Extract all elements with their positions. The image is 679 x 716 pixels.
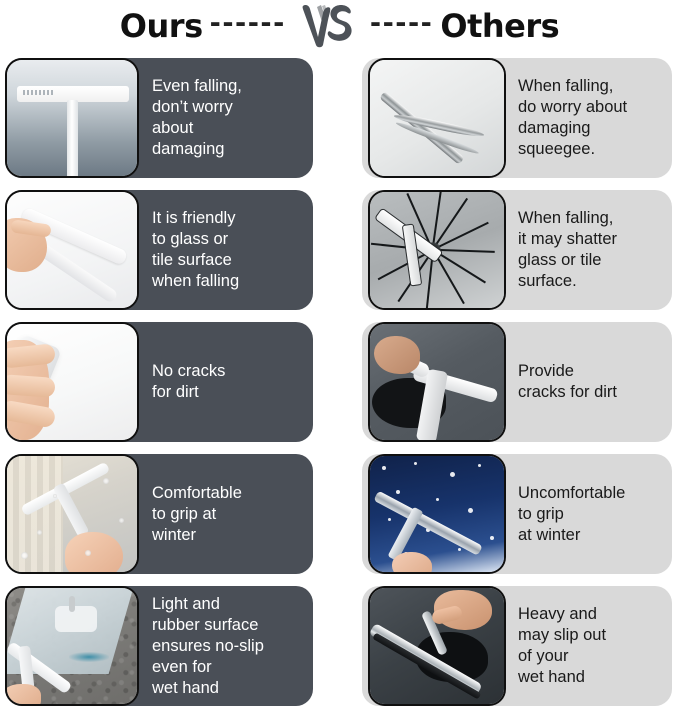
comparison-row: No cracks for dirt Provide cracks for di… bbox=[0, 316, 679, 446]
others-text-1: When falling, do worry about damaging sq… bbox=[506, 58, 672, 178]
text-line: about bbox=[152, 118, 305, 139]
others-thumbnail-3 bbox=[368, 322, 506, 442]
text-line: wet hand bbox=[518, 667, 664, 688]
text-line: tile surface bbox=[152, 250, 305, 271]
text-line: It is friendly bbox=[152, 208, 305, 229]
text-line: it may shatter bbox=[518, 229, 664, 250]
comparison-row: Light and rubber surface ensures no-slip… bbox=[0, 580, 679, 710]
text-line: at winter bbox=[518, 525, 664, 546]
text-line: Uncomfortable bbox=[518, 483, 664, 504]
ours-card-1: Even falling, don’t worry about damaging bbox=[5, 58, 313, 178]
others-thumbnail-2 bbox=[368, 190, 506, 310]
text-line: When falling, bbox=[518, 76, 664, 97]
ours-thumbnail-1 bbox=[5, 58, 139, 178]
text-line: cracks for dirt bbox=[518, 382, 664, 403]
text-line: rubber surface bbox=[152, 615, 305, 636]
text-line: Provide bbox=[518, 361, 664, 382]
text-line: don’t worry bbox=[152, 97, 305, 118]
others-thumbnail-1 bbox=[368, 58, 506, 178]
text-line: to grip at bbox=[152, 504, 305, 525]
others-text-3: Provide cracks for dirt bbox=[506, 322, 672, 442]
left-dashes: ------ bbox=[210, 8, 286, 39]
ours-text-5: Light and rubber surface ensures no-slip… bbox=[139, 586, 313, 706]
comparison-row: It is friendly to glass or tile surface … bbox=[0, 184, 679, 314]
comparison-infographic: Ours ------ ----- Others bbox=[0, 0, 679, 716]
others-card-2: When falling, it may shatter glass or ti… bbox=[362, 190, 672, 310]
vs-brush-icon bbox=[297, 3, 359, 49]
ours-card-5: Light and rubber surface ensures no-slip… bbox=[5, 586, 313, 706]
comparison-rows: Even falling, don’t worry about damaging… bbox=[0, 52, 679, 712]
others-card-5: Heavy and may slip out of your wet hand bbox=[362, 586, 672, 706]
comparison-row: Comfortable to grip at winter bbox=[0, 448, 679, 578]
ours-card-3: No cracks for dirt bbox=[5, 322, 313, 442]
text-line: squeegee. bbox=[518, 139, 664, 160]
text-line: of your bbox=[518, 646, 664, 667]
ours-text-2: It is friendly to glass or tile surface … bbox=[139, 190, 313, 310]
others-thumbnail-5 bbox=[368, 586, 506, 706]
text-line: to grip bbox=[518, 504, 664, 525]
ours-text-4: Comfortable to grip at winter bbox=[139, 454, 313, 574]
others-thumbnail-4 bbox=[368, 454, 506, 574]
right-dashes: ----- bbox=[370, 8, 434, 39]
text-line: glass or tile bbox=[518, 250, 664, 271]
text-line: Heavy and bbox=[518, 604, 664, 625]
text-line: even for bbox=[152, 657, 305, 678]
others-card-4: Uncomfortable to grip at winter bbox=[362, 454, 672, 574]
ours-text-3: No cracks for dirt bbox=[139, 322, 313, 442]
others-card-1: When falling, do worry about damaging sq… bbox=[362, 58, 672, 178]
ours-thumbnail-3 bbox=[5, 322, 139, 442]
text-line: surface. bbox=[518, 271, 664, 292]
text-line: Light and bbox=[152, 594, 305, 615]
ours-title: Ours bbox=[120, 10, 203, 42]
text-line: damaging bbox=[518, 118, 664, 139]
text-line: to glass or bbox=[152, 229, 305, 250]
text-line: do worry about bbox=[518, 97, 664, 118]
text-line: may slip out bbox=[518, 625, 664, 646]
ours-thumbnail-5 bbox=[5, 586, 139, 706]
text-line: Even falling, bbox=[152, 76, 305, 97]
others-text-5: Heavy and may slip out of your wet hand bbox=[506, 586, 672, 706]
header: Ours ------ ----- Others bbox=[0, 0, 679, 52]
text-line: No cracks bbox=[152, 361, 305, 382]
others-text-2: When falling, it may shatter glass or ti… bbox=[506, 190, 672, 310]
others-card-3: Provide cracks for dirt bbox=[362, 322, 672, 442]
others-text-4: Uncomfortable to grip at winter bbox=[506, 454, 672, 574]
comparison-row: Even falling, don’t worry about damaging… bbox=[0, 52, 679, 182]
ours-thumbnail-2 bbox=[5, 190, 139, 310]
others-title: Others bbox=[440, 10, 559, 42]
ours-card-2: It is friendly to glass or tile surface … bbox=[5, 190, 313, 310]
text-line: ensures no-slip bbox=[152, 636, 305, 657]
text-line: damaging bbox=[152, 139, 305, 160]
text-line: Comfortable bbox=[152, 483, 305, 504]
text-line: When falling, bbox=[518, 208, 664, 229]
text-line: when falling bbox=[152, 271, 305, 292]
text-line: wet hand bbox=[152, 678, 305, 699]
ours-text-1: Even falling, don’t worry about damaging bbox=[139, 58, 313, 178]
ours-thumbnail-4 bbox=[5, 454, 139, 574]
ours-card-4: Comfortable to grip at winter bbox=[5, 454, 313, 574]
text-line: winter bbox=[152, 525, 305, 546]
text-line: for dirt bbox=[152, 382, 305, 403]
